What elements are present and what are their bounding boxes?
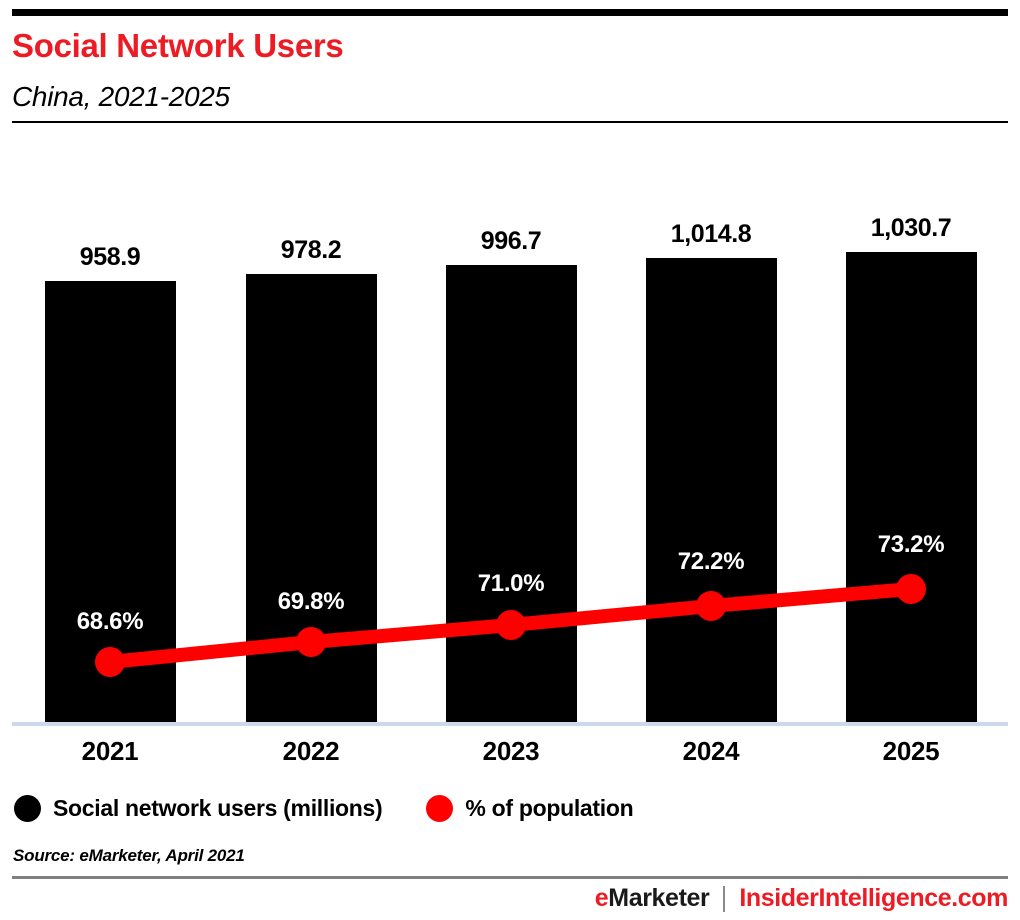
legend-item-2[interactable]: % of population [426,795,633,822]
x-axis-line [12,722,1008,726]
percent-label-2023: 71.0% [411,570,611,598]
bar-value-label-2021: 958.9 [10,243,210,272]
x-axis-tick-2024: 2024 [611,736,811,767]
bar-value-label-2022: 978.2 [211,236,411,265]
footer-divider [12,876,1008,879]
brand-e-letter: e [595,884,609,912]
brand-emarketer: eMarketer [595,884,710,913]
x-axis-tick-2022: 2022 [211,736,411,767]
bar-value-label-2024: 1,014.8 [611,220,811,249]
bar-2023 [446,265,577,722]
legend-label-2: % of population [465,795,633,822]
bar-value-label-2023: 996.7 [411,227,611,256]
brand-marketer-text: Marketer [608,884,709,912]
legend-label-1: Social network users (millions) [53,795,382,822]
brand-insiderintelligence[interactable]: InsiderIntelligence.com [739,884,1008,913]
plot-area: 68.6%69.8%71.0%72.2%73.2% 958.9978.2996.… [0,0,1020,920]
bar-2025 [846,252,977,722]
bar-2024 [646,258,777,722]
circle-marker-red-icon [426,795,453,822]
percent-label-2021: 68.6% [10,608,210,636]
brand-footer: eMarketer InsiderIntelligence.com [595,884,1008,913]
source-note: Source: eMarketer, April 2021 [13,846,245,866]
chart-page: Social Network Users China, 2021-2025 68… [0,0,1020,920]
x-axis-tick-2021: 2021 [10,736,210,767]
percent-label-2025: 73.2% [811,531,1011,559]
percent-label-2022: 69.8% [211,588,411,616]
legend-item-1[interactable]: Social network users (millions) [14,795,382,822]
bar-2021 [45,281,176,722]
circle-marker-black-icon [14,795,41,822]
bar-2022 [246,274,377,722]
chart-legend: Social network users (millions)% of popu… [14,790,633,826]
percent-label-2024: 72.2% [611,548,811,576]
bar-value-label-2025: 1,030.7 [811,214,1011,243]
x-axis-tick-2023: 2023 [411,736,611,767]
x-axis-tick-2025: 2025 [811,736,1011,767]
brand-separator [723,886,725,912]
